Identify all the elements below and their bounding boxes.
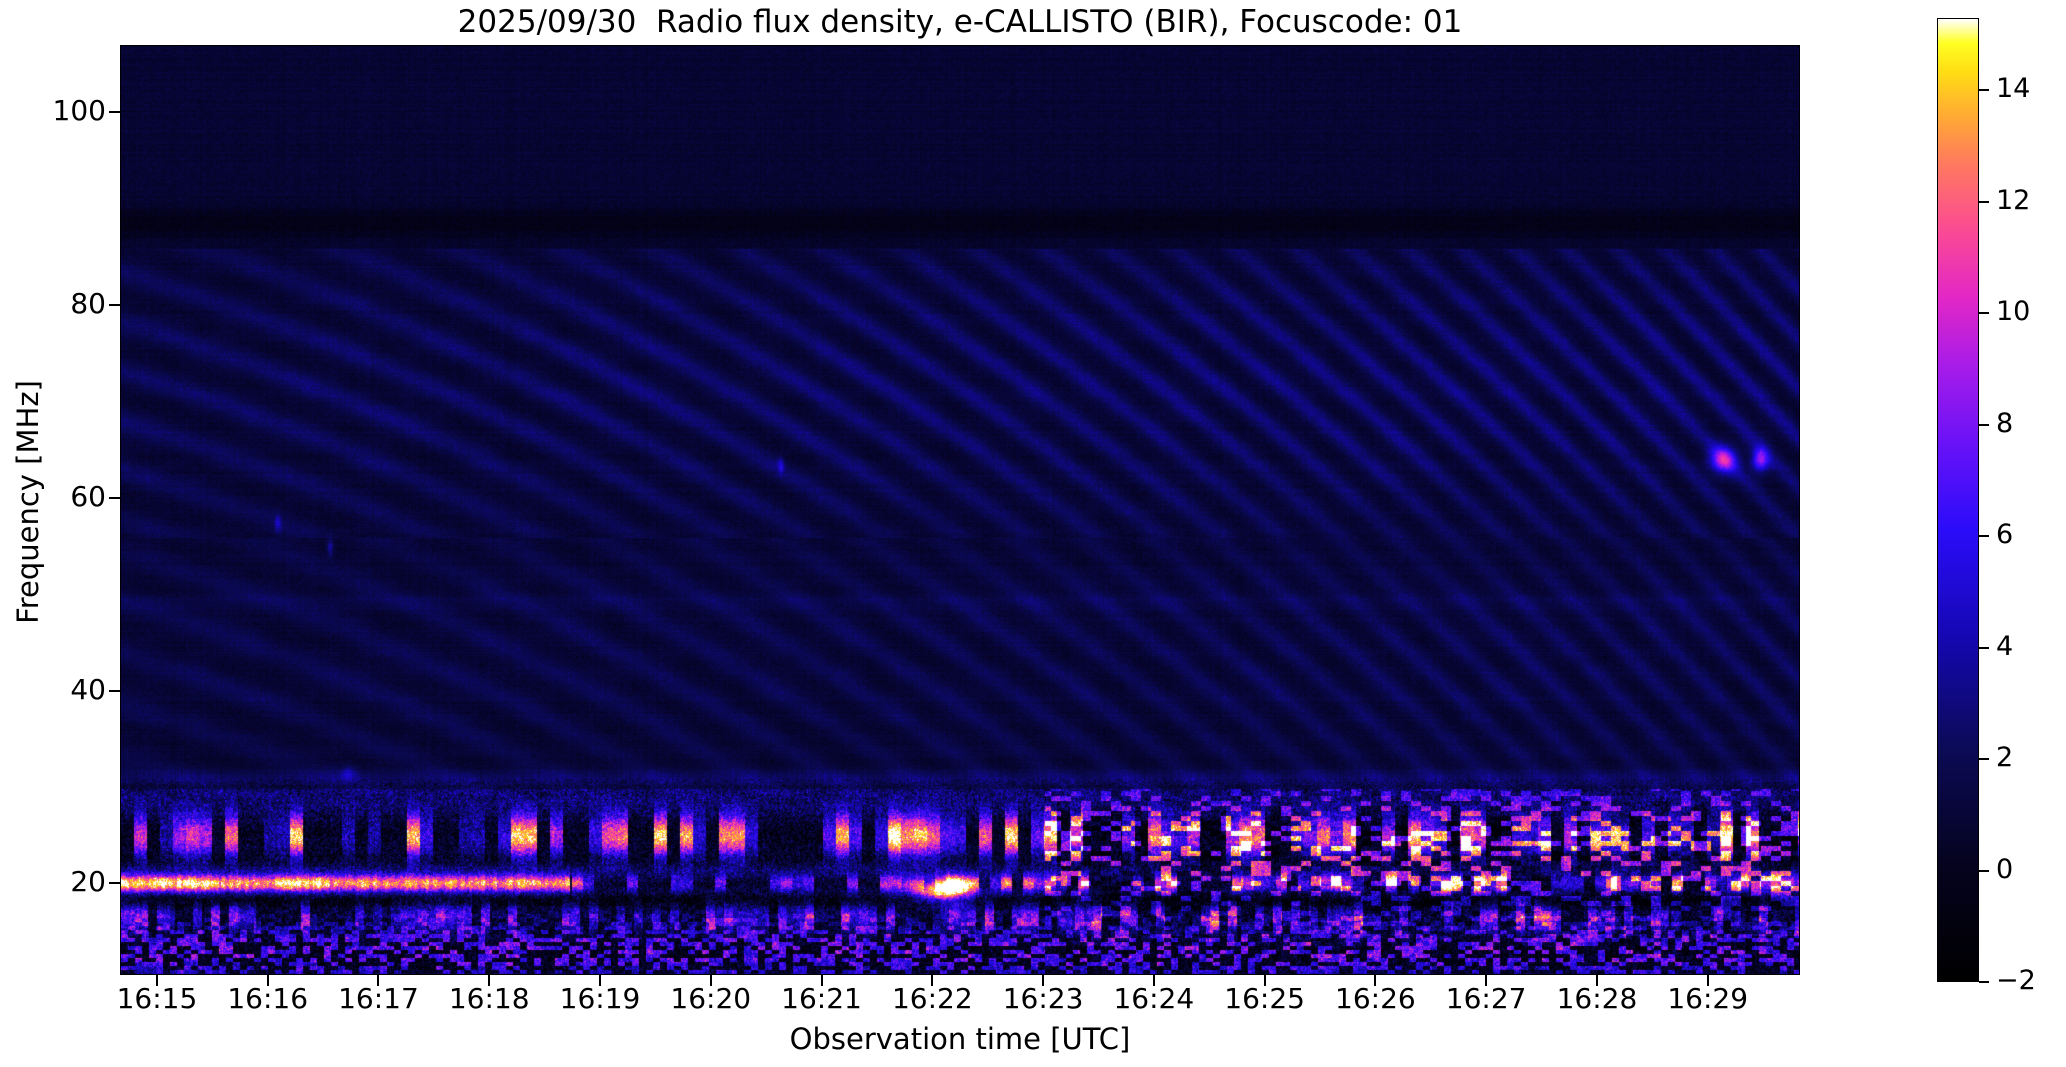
y-tick-label-80: 80 bbox=[34, 287, 106, 320]
colorbar-tick-mark bbox=[1979, 424, 1989, 426]
colorbar-tick-label-12: 12 bbox=[1996, 185, 2030, 216]
y-tick-label-60: 60 bbox=[34, 480, 106, 513]
spectrogram-image bbox=[121, 46, 1800, 975]
colorbar-tick-label-2: 2 bbox=[1996, 742, 2013, 773]
y-tick-mark bbox=[109, 882, 120, 884]
colorbar-tick-label-6: 6 bbox=[1996, 519, 2013, 550]
y-tick-label-20: 20 bbox=[34, 865, 106, 898]
colorbar-tick-label-10: 10 bbox=[1996, 296, 2030, 327]
x-tick-label-16-29: 16:29 bbox=[1633, 982, 1783, 1015]
x-axis-label: Observation time [UTC] bbox=[120, 1022, 1800, 1056]
y-tick-mark bbox=[109, 690, 120, 692]
spectrogram-plot-area[interactable] bbox=[120, 45, 1800, 975]
y-tick-label-100: 100 bbox=[34, 94, 106, 127]
colorbar-tick-label-14: 14 bbox=[1996, 73, 2030, 104]
page-title: 2025/09/30 Radio flux density, e-CALLIST… bbox=[0, 4, 1920, 40]
y-tick-mark bbox=[109, 497, 120, 499]
colorbar-gradient bbox=[1938, 19, 1978, 981]
colorbar-tick-mark bbox=[1979, 758, 1989, 760]
colorbar[interactable] bbox=[1937, 18, 1979, 982]
colorbar-tick-label-4: 4 bbox=[1996, 631, 2013, 662]
y-tick-mark bbox=[109, 304, 120, 306]
spectrogram-figure: 2025/09/30 Radio flux density, e-CALLIST… bbox=[0, 0, 2066, 1067]
colorbar-tick-mark bbox=[1979, 312, 1989, 314]
colorbar-tick-label-8: 8 bbox=[1996, 408, 2013, 439]
colorbar-tick-mark bbox=[1979, 870, 1989, 872]
colorbar-tick-mark bbox=[1979, 981, 1989, 983]
y-tick-mark bbox=[109, 111, 120, 113]
colorbar-tick-label-0: 0 bbox=[1996, 854, 2013, 885]
colorbar-tick-mark bbox=[1979, 647, 1989, 649]
y-tick-label-40: 40 bbox=[34, 673, 106, 706]
colorbar-tick-mark bbox=[1979, 89, 1989, 91]
colorbar-tick-mark bbox=[1979, 201, 1989, 203]
colorbar-tick-mark bbox=[1979, 535, 1989, 537]
colorbar-tick-label-neg2: −2 bbox=[1996, 965, 2036, 996]
